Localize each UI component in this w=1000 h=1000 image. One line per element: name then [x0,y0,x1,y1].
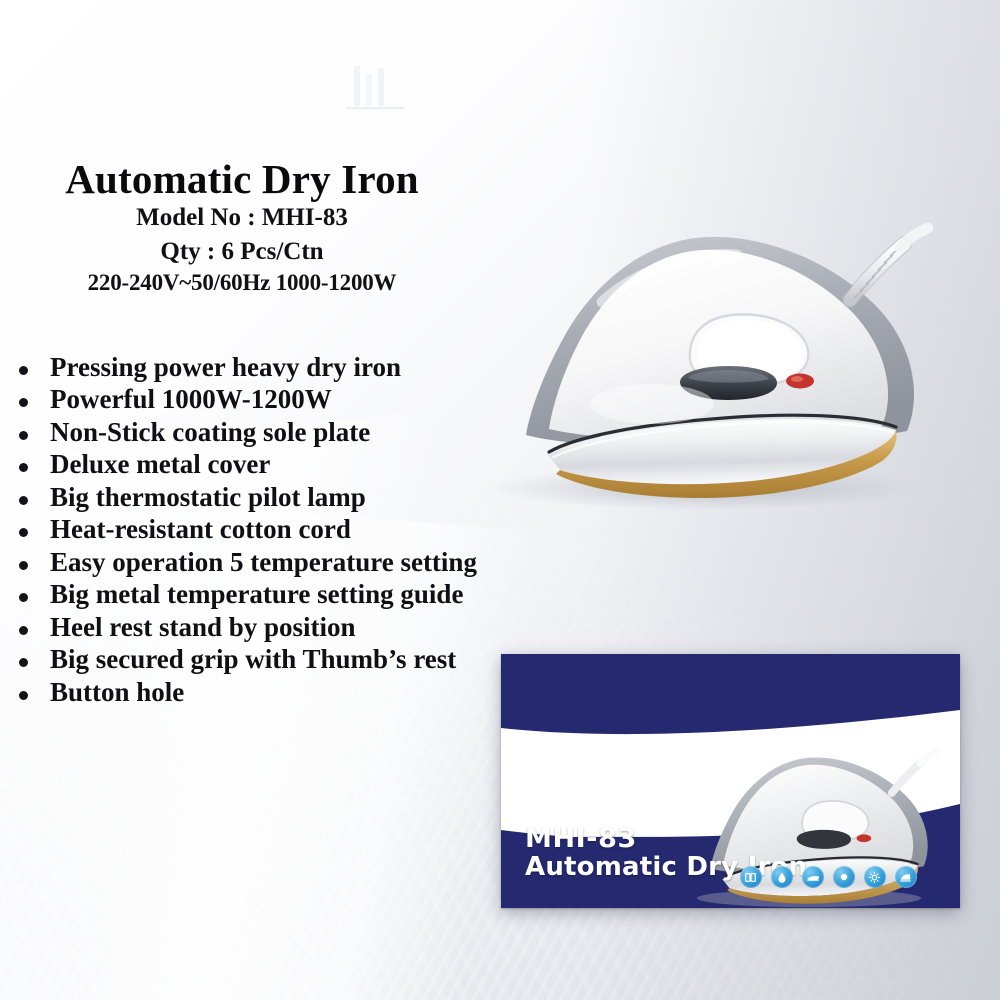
list-item: Heel rest stand by position [16,612,486,643]
sole-plate-glyph [802,866,824,888]
list-item: Deluxe metal cover [16,449,486,480]
product-photo-iron [452,152,964,518]
temperature-setting-glyph [864,866,886,888]
ironing-icon [894,866,917,890]
ironing-glyph [895,866,917,888]
page-title: Automatic Dry Iron [0,158,484,201]
sole-plate-icon [801,866,824,890]
faint-watermark-icon [344,62,406,114]
thermostat-control-glyph [740,866,762,888]
list-item: Easy operation 5 temperature setting [16,547,486,578]
water-drop-glyph [771,866,793,888]
product-package-artwork: MHI-83 Automatic Dry Iron [501,654,960,908]
list-item: Powerful 1000W-1200W [16,384,486,415]
carton-model-label: MHI-83 [525,824,807,853]
thermostat-control-icon [739,866,762,890]
list-item: Pressing power heavy dry iron [16,352,486,383]
feature-list: Pressing power heavy dry iron Powerful 1… [16,352,486,709]
list-item: Heat-resistant cotton cord [16,514,486,545]
carton-feature-icon-row [739,866,917,890]
pilot-lamp-glyph [833,866,855,888]
title-block: Automatic Dry Iron Model No : MHI-83 Qty… [0,158,484,299]
list-item: Big secured grip with Thumb’s rest [16,644,486,675]
pilot-lamp-icon [832,866,855,890]
temperature-setting-icon [863,866,886,890]
list-item: Non-Stick coating sole plate [16,417,486,448]
water-drop-icon [770,866,793,890]
list-item: Big metal temperature setting guide [16,579,486,610]
list-item: Button hole [16,677,486,708]
quantity-line: Qty : 6 Pcs/Ctn [0,235,484,269]
list-item: Big thermostatic pilot lamp [16,482,486,513]
electrical-spec-line: 220-240V~50/60Hz 1000-1200W [0,268,484,299]
model-number-line: Model No : MHI-83 [0,201,484,235]
product-poster: Automatic Dry Iron Model No : MHI-83 Qty… [0,0,1000,1000]
